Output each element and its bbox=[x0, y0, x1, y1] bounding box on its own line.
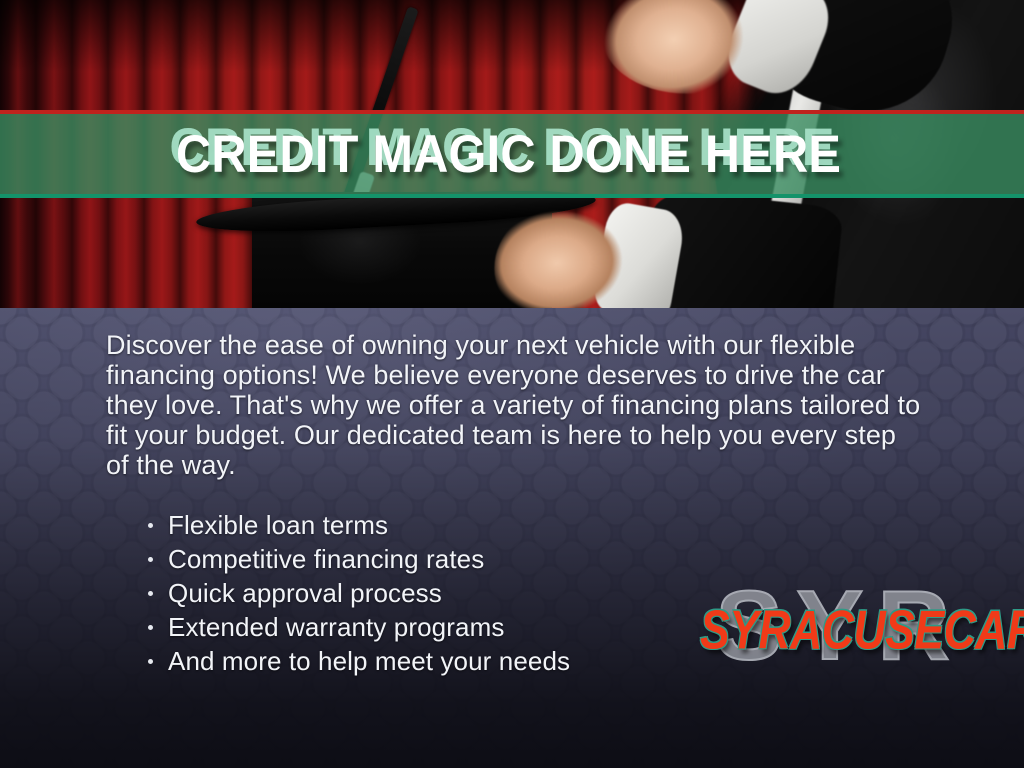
headline-band: CREDIT MAGIC DONE HERE bbox=[0, 110, 1024, 198]
list-item: And more to help meet your needs bbox=[146, 644, 570, 678]
promo-slide: CREDIT MAGIC DONE HERE Discover the ease… bbox=[0, 0, 1024, 768]
logo-wordmark: SYRACUSECARS.COM bbox=[700, 602, 973, 658]
list-item: Extended warranty programs bbox=[146, 610, 570, 644]
intro-paragraph: Discover the ease of owning your next ve… bbox=[106, 330, 924, 480]
list-item: Competitive financing rates bbox=[146, 542, 570, 576]
band-bottom-rule bbox=[0, 194, 1024, 198]
feature-list: Flexible loan terms Competitive financin… bbox=[146, 508, 570, 678]
list-item: Flexible loan terms bbox=[146, 508, 570, 542]
page-title: CREDIT MAGIC DONE HERE bbox=[176, 124, 811, 188]
syracusecars-logo[interactable]: SYR SYRACUSECARS.COM bbox=[700, 572, 976, 686]
list-item: Quick approval process bbox=[146, 576, 570, 610]
